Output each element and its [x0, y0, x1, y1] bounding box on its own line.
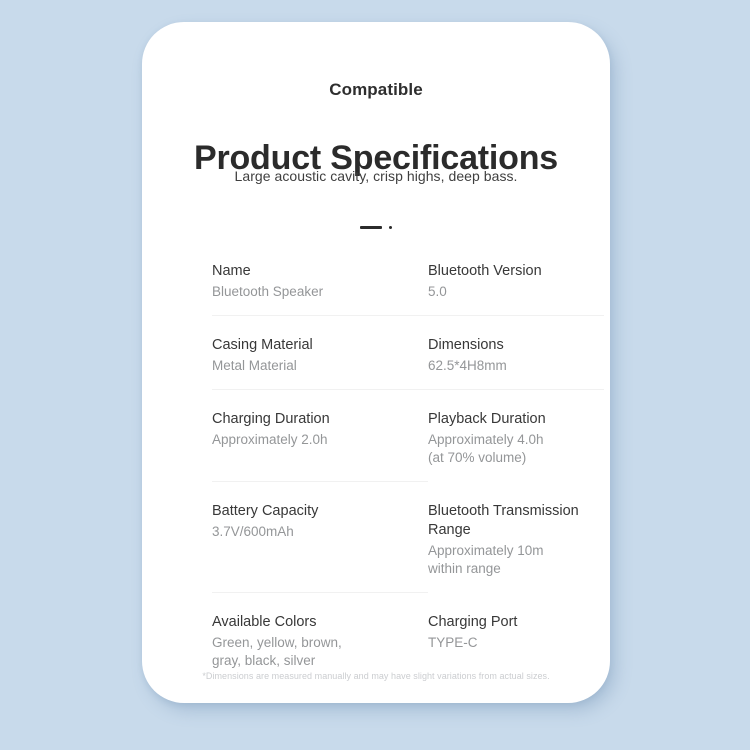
specifications-table: Name Bluetooth Speaker Bluetooth Version… [212, 262, 604, 670]
spec-cell-left: Charging Duration Approximately 2.0h [212, 410, 428, 467]
spec-value: 3.7V/600mAh [212, 523, 418, 541]
spec-cell-left: Available Colors Green, yellow, brown, g… [212, 613, 428, 670]
row-spacer [212, 578, 604, 592]
divider-dash [360, 226, 382, 229]
spec-value: Metal Material [212, 357, 418, 375]
spec-value: 62.5*4H8mm [428, 357, 604, 375]
spec-value: 5.0 [428, 283, 604, 301]
spec-value: TYPE-C [428, 634, 604, 652]
spec-label: Playback Duration [428, 410, 604, 429]
row-spacer [212, 467, 604, 481]
spec-value: Green, yellow, brown, gray, black, silve… [212, 634, 418, 670]
table-row: Charging Duration Approximately 2.0h Pla… [212, 410, 604, 467]
table-row: Available Colors Green, yellow, brown, g… [212, 613, 604, 670]
spec-label: Casing Material [212, 336, 418, 355]
spec-cell-left: Battery Capacity 3.7V/600mAh [212, 502, 428, 578]
spec-cell-right: Dimensions 62.5*4H8mm [428, 336, 604, 375]
spec-cell-left: Casing Material Metal Material [212, 336, 428, 375]
row-spacer [212, 482, 604, 502]
spec-value: Approximately 2.0h [212, 431, 418, 449]
table-row: Casing Material Metal Material Dimension… [212, 336, 604, 375]
spec-label: Available Colors [212, 613, 418, 632]
page-subtitle: Large acoustic cavity, crisp highs, deep… [142, 168, 610, 184]
table-row: Battery Capacity 3.7V/600mAh Bluetooth T… [212, 502, 604, 578]
footnote-text: *Dimensions are measured manually and ma… [142, 671, 610, 681]
spec-cell-right: Bluetooth Transmission Range Approximate… [428, 502, 604, 578]
row-spacer [212, 593, 604, 613]
spec-label: Bluetooth Transmission Range [428, 502, 604, 540]
spec-value: Approximately 4.0h (at 70% volume) [428, 431, 604, 467]
spec-cell-right: Bluetooth Version 5.0 [428, 262, 604, 301]
spec-value: Bluetooth Speaker [212, 283, 418, 301]
row-spacer [212, 390, 604, 410]
row-spacer [212, 301, 604, 315]
dash-dot-divider-icon [142, 222, 610, 232]
spec-label: Dimensions [428, 336, 604, 355]
spec-cell-right: Playback Duration Approximately 4.0h (at… [428, 410, 604, 467]
product-spec-card: Compatible Product Specifications Large … [142, 22, 610, 703]
spec-cell-left: Name Bluetooth Speaker [212, 262, 428, 301]
divider-dot [389, 226, 392, 229]
spec-label: Name [212, 262, 418, 281]
table-row: Name Bluetooth Speaker Bluetooth Version… [212, 262, 604, 301]
spec-cell-right: Charging Port TYPE-C [428, 613, 604, 670]
spec-label: Charging Port [428, 613, 604, 632]
row-spacer [212, 375, 604, 389]
eyebrow-label: Compatible [142, 80, 610, 100]
spec-value: Approximately 10m within range [428, 542, 604, 578]
spec-label: Bluetooth Version [428, 262, 604, 281]
row-spacer [212, 316, 604, 336]
spec-label: Battery Capacity [212, 502, 418, 521]
spec-label: Charging Duration [212, 410, 418, 429]
card-content: Compatible Product Specifications Large … [142, 22, 610, 703]
